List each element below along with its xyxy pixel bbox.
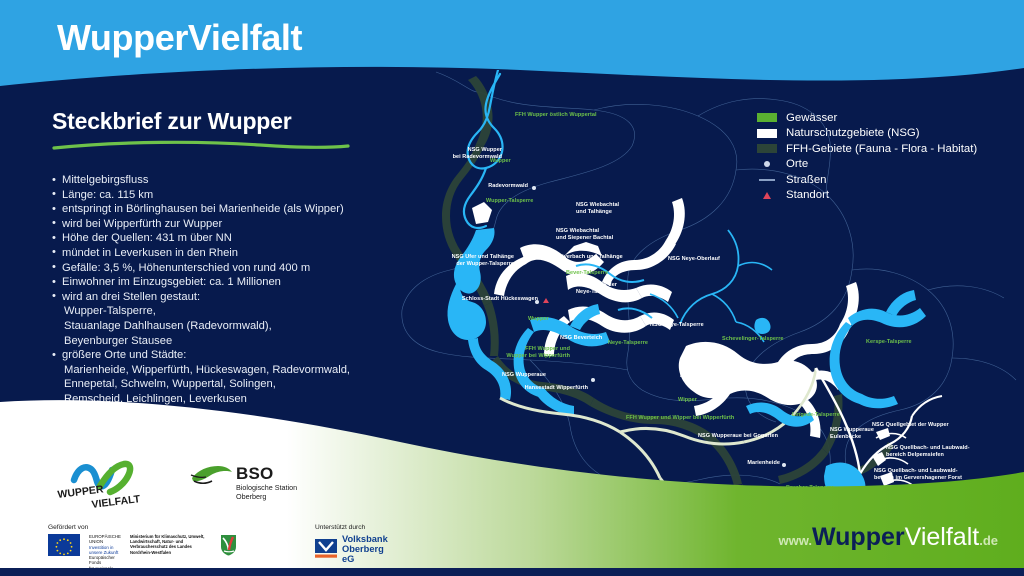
fact-item: Wupper-Talsperre, xyxy=(52,304,382,319)
bso-name: BSO xyxy=(236,464,273,484)
volksbank-line2: Oberberg eG xyxy=(342,544,388,564)
map-label-nsg-ufer-talhaenge-wupper-talsperre: NSG Ufer und Talhänge der Wupper-Talsper… xyxy=(380,254,514,267)
map-label-nsg-wupper-bei-radevormwald: NSG Wupper bei Radevormwald xyxy=(380,147,502,160)
map-label-ffh-wupper-wupper-bei-wipperfuerth: FFH Wupper und Wupper bei Wipperfürth xyxy=(458,346,570,359)
volksbank-logo-icon xyxy=(315,539,337,559)
map-label-wupper-talsperre: Wupper-Talsperre xyxy=(486,198,533,205)
fact-item: Beyenburger Stausee xyxy=(52,334,382,349)
volksbank-name: Volksbank Oberberg eG xyxy=(342,534,388,564)
city-dot-wipperfuerth xyxy=(591,378,595,382)
fact-item: wird bei Wipperfürth zur Wupper xyxy=(52,217,382,232)
fact-item: Mittelgebirgsfluss xyxy=(52,173,382,188)
map-label-wupper-mid: Wupper xyxy=(528,316,549,323)
fact-item: Länge: ca. 115 km xyxy=(52,188,382,203)
url-brand-light: Vielfalt xyxy=(905,523,980,551)
map-label-radevormwald: Radevormwald xyxy=(440,183,528,190)
map-label-ffh-wupper-oestlich-wuppertal: FFH Wupper östlich Wuppertal xyxy=(515,112,597,119)
wuppervielfalt-logo: WUPPER VIELFALT xyxy=(56,458,176,508)
map-label-schevelinger-talsperre: Schevelinger-Talsperre xyxy=(722,336,784,343)
map-label-nsg-neye-oberlauf: NSG Neye-Oberlauf xyxy=(668,256,720,263)
ministry-text: Ministerium für Klimaschutz, Umwelt, Lan… xyxy=(130,534,211,555)
bso-bird-icon xyxy=(188,462,234,492)
map-label-bever-talsperre: Bever-Talsperre xyxy=(566,270,608,277)
url-www: www. xyxy=(779,533,812,548)
bso-subtitle-line2: Oberberg xyxy=(236,492,297,501)
logo-row: WUPPER VIELFALT BSO Biologische Station … xyxy=(48,458,378,510)
bso-subtitle: Biologische Station Oberberg xyxy=(236,483,297,501)
panel-title: Steckbrief zur Wupper xyxy=(52,108,382,135)
volksbank-line1: Volksbank xyxy=(342,534,388,544)
fact-item: Stauanlage Dahlhausen (Radevormwald), xyxy=(52,319,382,334)
bso-subtitle-line1: Biologische Station xyxy=(236,483,297,492)
poster-root: WupperVielfalt Steckbrief zur Wupper Mit… xyxy=(0,0,1024,576)
footer-bar xyxy=(0,568,1024,576)
map-label-nsg-haenge-neye-talsperre: NSG Hänge der Neye-Talsperre xyxy=(576,282,617,295)
map-label-neye-talsperre: Neye-Talsperre xyxy=(608,340,648,347)
fact-item: wird an drei Stellen gestaut: xyxy=(52,290,382,305)
eu-line-2: Investition in unsere Zukunft xyxy=(89,545,121,556)
map-label-schloss-stadt-hueckeswagen: Schloss-Stadt Hückeswagen xyxy=(388,296,538,303)
url-brand-bold: Wupper xyxy=(812,523,905,551)
fact-item: größere Orte und Städte: xyxy=(52,348,382,363)
page-title: WupperVielfalt xyxy=(57,20,302,56)
fact-item: mündet in Leverkusen in den Rhein xyxy=(52,246,382,261)
fact-item: entspringt in Börlinghausen bei Marienhe… xyxy=(52,202,382,217)
funded-by-caption: Gefördert von xyxy=(48,524,237,531)
city-dot-radevormwald xyxy=(532,186,536,190)
nrw-shield-icon xyxy=(220,534,237,556)
website-url[interactable]: www.WupperVielfalt.de xyxy=(779,525,998,550)
facts-list: MittelgebirgsflussLänge: ca. 115 kmentsp… xyxy=(52,173,382,407)
supported-by-caption: Unterstützt durch xyxy=(315,524,388,531)
eu-flag-icon xyxy=(48,534,80,556)
bso-logo: BSO Biologische Station Oberberg xyxy=(188,462,318,508)
map-label-nsg-wiebachtal-siepener-bachtal: NSG Wiebachtal und Siepener Bachtal xyxy=(556,228,613,241)
green-underline xyxy=(52,139,352,151)
info-panel: Steckbrief zur Wupper Mittelgebirgsfluss… xyxy=(52,108,382,407)
map-label-wupper-north: Wupper xyxy=(490,158,511,165)
fact-item: Einwohner im Einzugsgebiet: ca. 1 Millio… xyxy=(52,275,382,290)
map-label-nsg-wiebachtal-talhaenge: NSG Wiebachtal und Talhänge xyxy=(576,202,619,215)
eu-line-3: Europäischer Fonds xyxy=(89,555,121,566)
fact-item: Marienheide, Wipperfürth, Hückeswagen, R… xyxy=(52,363,382,378)
standort-marker xyxy=(543,298,549,303)
eu-line-1: EUROPÄISCHE UNION xyxy=(89,534,121,545)
url-tld: .de xyxy=(979,533,998,548)
map-label-nsg-wupperaue-east: NSG Wupperaue xyxy=(680,373,724,380)
map-label-kerspe-talsperre: Kerspe-Talsperre xyxy=(866,339,912,346)
map-label-nsg-wupperaue-west: NSG Wupperaue xyxy=(466,372,546,379)
map-label-nsg-beverteich: NSG Beverteich xyxy=(560,335,602,342)
map-label-nsg-neye-talsperre: NSG Neye-Talsperre xyxy=(650,322,704,329)
map-label-nsg-leiverbach-talhaenge: NSG Leiverbach und Talhänge xyxy=(542,254,623,261)
fact-item: Gefälle: 3,5 %, Höhenunterschied von run… xyxy=(52,261,382,276)
fact-item: Höhe der Quellen: 431 m über NN xyxy=(52,231,382,246)
